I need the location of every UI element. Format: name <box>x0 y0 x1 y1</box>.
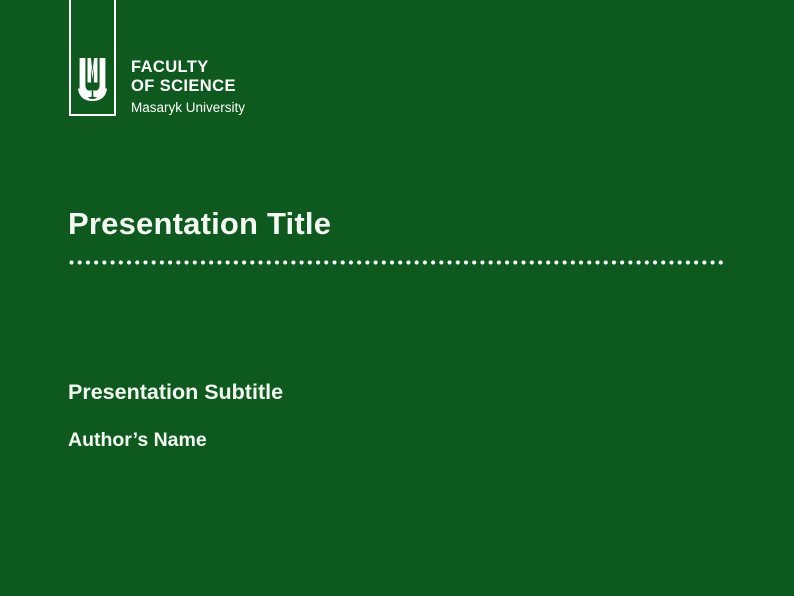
university-logo: FACULTY OF SCIENCE Masaryk University <box>69 0 409 125</box>
logo-science-line: OF SCIENCE <box>131 77 401 96</box>
dotted-divider <box>69 260 727 265</box>
title-slide: FACULTY OF SCIENCE Masaryk University Pr… <box>0 0 794 596</box>
logo-faculty-line: FACULTY <box>131 58 401 77</box>
logo-wordmark: FACULTY OF SCIENCE Masaryk University <box>131 58 401 117</box>
author-name: Author’s Name <box>68 427 207 453</box>
page-title: Presentation Title <box>68 205 331 243</box>
logo-university-line: Masaryk University <box>131 99 401 117</box>
page-subtitle: Presentation Subtitle <box>68 378 283 406</box>
mu-monogram-icon <box>78 58 107 101</box>
